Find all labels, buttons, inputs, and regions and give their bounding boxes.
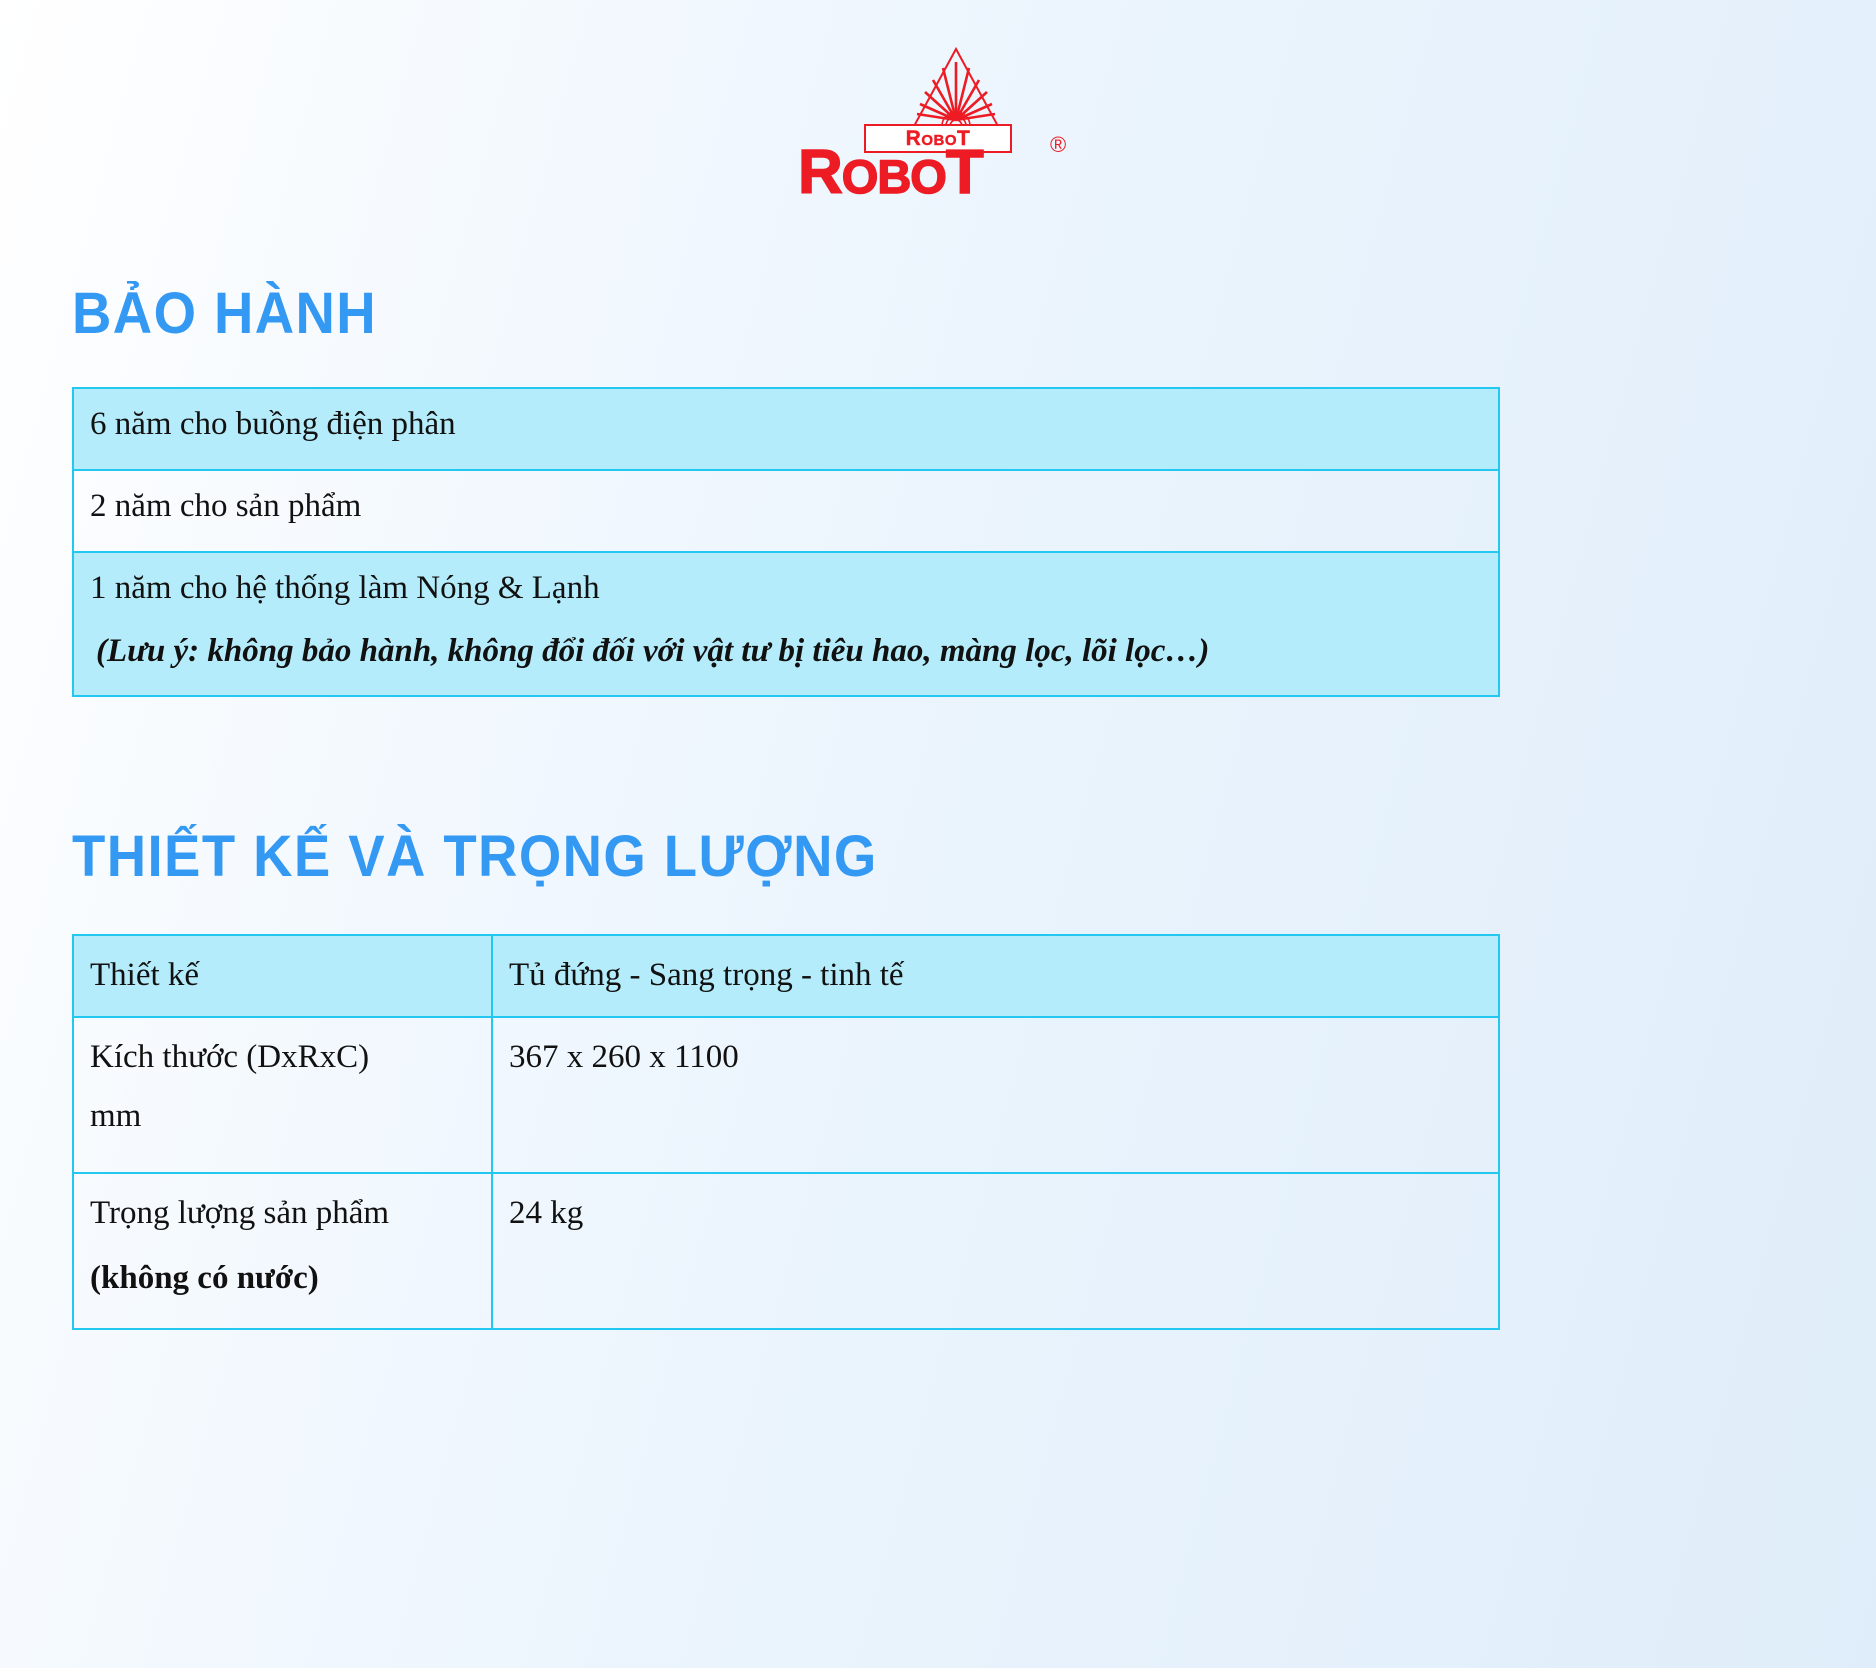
design-value-1: Tủ đứng - Sang trọng - tinh tế (492, 935, 1499, 1018)
table-row: 1 năm cho hệ thống làm Nóng & Lạnh (Lưu … (73, 552, 1499, 696)
design-weight-table: Thiết kế Tủ đứng - Sang trọng - tinh tế … (72, 934, 1500, 1331)
section-title-design: THIẾT KẾ VÀ TRỌNG LƯỢNG (72, 827, 1700, 888)
design-label-3: Trọng lượng sản phẩm (không có nước) (73, 1173, 492, 1329)
triangle-sunburst-icon (910, 46, 1002, 132)
warranty-table: 6 năm cho buồng điện phân 2 năm cho sản … (72, 387, 1500, 697)
design-label-2: Kích thước (DxRxC) mm (73, 1017, 492, 1173)
warranty-cell-3: 1 năm cho hệ thống làm Nóng & Lạnh (Lưu … (73, 552, 1499, 696)
design-value-2: 367 x 260 x 1100 (492, 1017, 1499, 1173)
warranty-cell-2: 2 năm cho sản phẩm (73, 470, 1499, 552)
robot-logo: ROBOT ROBOT ® (773, 46, 1103, 186)
design-value-3: 24 kg (492, 1173, 1499, 1329)
registered-trademark-icon: ® (1050, 134, 1066, 156)
brand-logo-container: ROBOT ROBOT ® (0, 0, 1876, 186)
table-row: 2 năm cho sản phẩm (73, 470, 1499, 552)
table-row: Trọng lượng sản phẩm (không có nước) 24 … (73, 1173, 1499, 1329)
table-row: 6 năm cho buồng điện phân (73, 388, 1499, 470)
logo-wordmark: ROBOT (798, 142, 983, 204)
design-label-3-line1: Trọng lượng sản phẩm (90, 1195, 389, 1231)
warranty-cell-1: 6 năm cho buồng điện phân (73, 388, 1499, 470)
design-label-3-line2: (không có nước) (90, 1255, 475, 1302)
table-row: Thiết kế Tủ đứng - Sang trọng - tinh tế (73, 935, 1499, 1018)
design-label-2-line2: mm (90, 1093, 475, 1140)
design-label-1: Thiết kế (73, 935, 492, 1018)
section-title-warranty: BẢO HÀNH (72, 284, 1700, 345)
warranty-cell-3-main: 1 năm cho hệ thống làm Nóng & Lạnh (90, 570, 600, 606)
design-label-2-line1: Kích thước (DxRxC) (90, 1039, 369, 1075)
page-content: BẢO HÀNH 6 năm cho buồng điện phân 2 năm… (0, 284, 1876, 1330)
warranty-note: (Lưu ý: không bảo hành, không đổi đối vớ… (90, 630, 1482, 673)
table-row: Kích thước (DxRxC) mm 367 x 260 x 1100 (73, 1017, 1499, 1173)
